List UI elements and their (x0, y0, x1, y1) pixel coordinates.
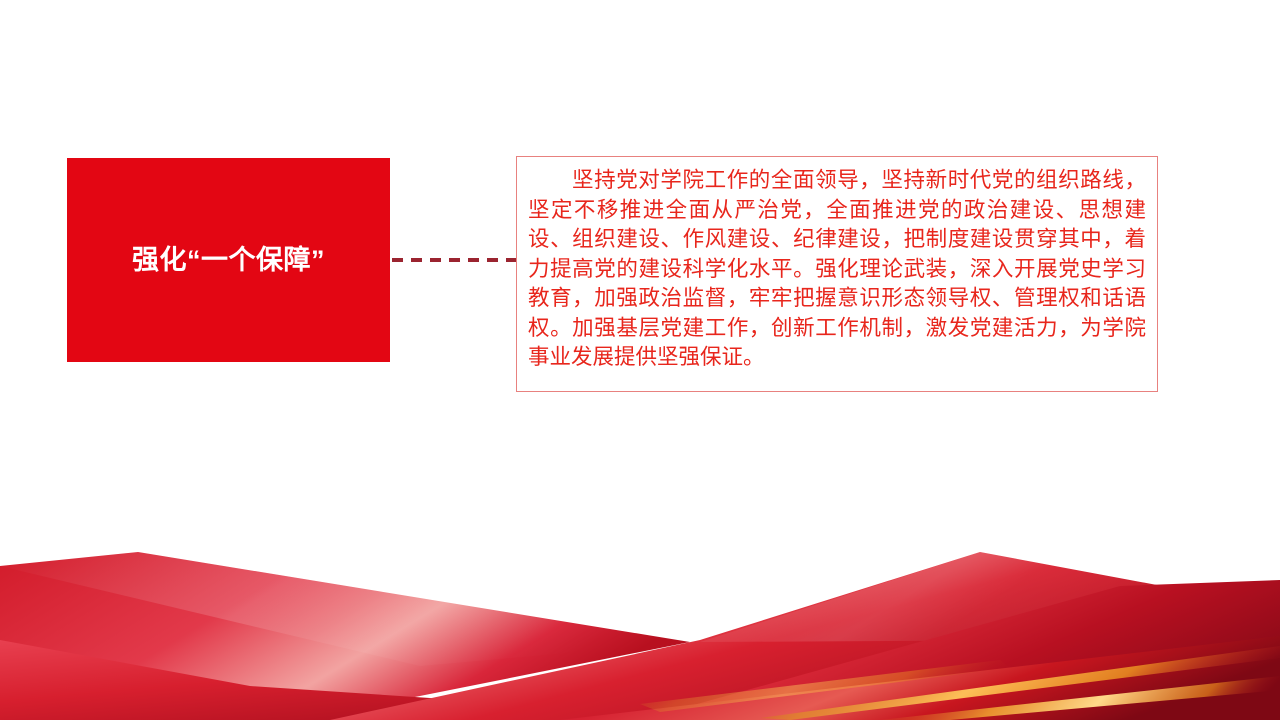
section-label-text: 强化“一个保障” (132, 244, 325, 276)
ribbon-sheen-center (700, 552, 1280, 642)
ribbon-fold-left-upper (0, 552, 690, 720)
ribbon-gold-streak-upper (760, 646, 1280, 720)
ribbon-svg (0, 490, 1280, 720)
ribbon-band-right-upper (640, 580, 1280, 720)
ribbon-band-right-lower (560, 636, 1280, 720)
ribbon-fold-center (330, 552, 1280, 720)
slide-canvas: 强化“一个保障” 坚持党对学院工作的全面领导，坚持新时代党的组织路线，坚定不移推… (0, 0, 1280, 720)
section-label-box: 强化“一个保障” (67, 158, 390, 362)
ribbon-gold-streak-faint (640, 660, 1010, 712)
dashed-connector-line (392, 258, 516, 262)
ribbon-fold-left-lower (0, 640, 760, 720)
ribbon-sheen-left (0, 552, 690, 666)
red-ribbon-graphic (0, 490, 1280, 720)
description-text-box: 坚持党对学院工作的全面领导，坚持新时代党的组织路线，坚定不移推进全面从严治党，全… (516, 156, 1158, 392)
description-paragraph: 坚持党对学院工作的全面领导，坚持新时代党的组织路线，坚定不移推进全面从严治党，全… (528, 166, 1146, 373)
ribbon-gold-streak-lower (880, 676, 1280, 720)
